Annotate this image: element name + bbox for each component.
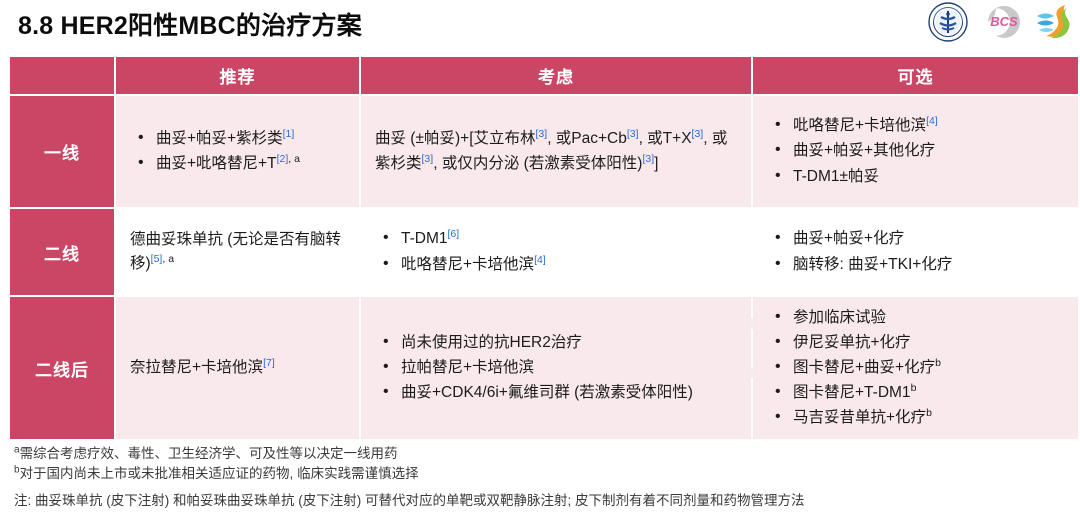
paragraph: 奈拉替尼+卡培他滨[7] <box>130 356 347 380</box>
reference-marker: [3] <box>422 152 434 164</box>
list-item: 马吉妥昔单抗+化疗b <box>773 406 1066 430</box>
logo-group: BCS <box>928 2 1074 47</box>
stage-label-second-line: 二线 <box>10 209 114 295</box>
footnote-block: a需综合考虑疗效、毒性、卫生经济学、可及性等以决定一线用药 b对于国内尚未上市或… <box>14 444 1070 511</box>
table-row: 二线 德曲妥珠单抗 (无论是否有脑转移)[5], a T-DM1[6]吡咯替尼+… <box>10 209 1078 295</box>
stage-label-first-line: 一线 <box>10 96 114 207</box>
paragraph: 曲妥 (±帕妥)+[艾立布林[3], 或Pac+Cb[3], 或T+X[3], … <box>375 127 739 175</box>
cell-recommend-first-line: 曲妥+帕妥+紫杉类[1]曲妥+吡咯替尼+T[2], a <box>116 96 359 207</box>
footnote-b-text: 对于国内尚未上市或未批准相关适应证的药物, 临床实践需谨慎选择 <box>20 466 419 481</box>
list-item: 图卡替尼+曲妥+化疗b <box>773 356 1066 380</box>
list-item: 曲妥+帕妥+化疗 <box>773 227 1066 251</box>
cell-consider-second-line: T-DM1[6]吡咯替尼+卡培他滨[4] <box>361 209 751 295</box>
table-row: 一线 曲妥+帕妥+紫杉类[1]曲妥+吡咯替尼+T[2], a 曲妥 (±帕妥)+… <box>10 96 1078 207</box>
list-item: T-DM1[6] <box>381 227 739 251</box>
cell-consider-beyond-second-line: 尚未使用过的抗HER2治疗拉帕替尼+卡培他滨曲妥+CDK4/6i+氟维司群 (若… <box>361 297 751 439</box>
table-header-row: 推荐 考虑 可选 <box>10 57 1078 94</box>
footnote-marker: , a <box>288 153 300 165</box>
reference-marker: [3] <box>536 128 548 140</box>
table-row: 二线后 奈拉替尼+卡培他滨[7] 尚未使用过的抗HER2治疗拉帕替尼+卡培他滨曲… <box>10 297 1078 439</box>
header-cell-optional: 可选 <box>753 57 1078 94</box>
bullet-list: 参加临床试验伊尼妥单抗+化疗图卡替尼+曲妥+化疗b图卡替尼+T-DM1b马吉妥昔… <box>767 306 1066 430</box>
cell-recommend-second-line: 德曲妥珠单抗 (无论是否有脑转移)[5], a <box>116 209 359 295</box>
reference-marker: [3] <box>627 128 639 140</box>
list-item: 曲妥+CDK4/6i+氟维司群 (若激素受体阳性) <box>381 381 739 405</box>
list-item: 曲妥+帕妥+紫杉类[1] <box>136 127 347 151</box>
list-item: 图卡替尼+T-DM1b <box>773 381 1066 405</box>
cell-optional-beyond-second-line: 参加临床试验伊尼妥单抗+化疗图卡替尼+曲妥+化疗b图卡替尼+T-DM1b马吉妥昔… <box>753 297 1078 439</box>
caca-emblem-logo <box>928 2 968 47</box>
footnote-b: b对于国内尚未上市或未批准相关适应证的药物, 临床实践需谨慎选择 <box>14 464 1070 484</box>
list-item: 尚未使用过的抗HER2治疗 <box>381 331 739 355</box>
header-cell-consider: 考虑 <box>361 57 751 94</box>
list-item: 拉帕替尼+卡培他滨 <box>381 356 739 380</box>
footnote-a-text: 需综合考虑疗效、毒性、卫生经济学、可及性等以决定一线用药 <box>20 446 398 461</box>
list-item: T-DM1±帕妥 <box>773 165 1066 189</box>
wave-s-logo <box>1034 2 1074 47</box>
page-title: 8.8 HER2阳性MBC的治疗方案 <box>18 6 362 42</box>
treatment-table: 推荐 考虑 可选 一线 曲妥+帕妥+紫杉类[1]曲妥+吡咯替尼+T[2], a … <box>8 55 1080 441</box>
header-cell-recommend: 推荐 <box>116 57 359 94</box>
table-head: 推荐 考虑 可选 <box>10 57 1078 94</box>
bullet-list: 曲妥+帕妥+化疗脑转移: 曲妥+TKI+化疗 <box>767 227 1066 276</box>
list-item: 参加临床试验 <box>773 306 1066 330</box>
header-cell-blank <box>10 57 114 94</box>
footnote-a: a需综合考虑疗效、毒性、卫生经济学、可及性等以决定一线用药 <box>14 444 1070 464</box>
paragraph: 德曲妥珠单抗 (无论是否有脑转移)[5], a <box>130 228 347 276</box>
list-item: 吡咯替尼+卡培他滨[4] <box>773 114 1066 138</box>
table-body: 一线 曲妥+帕妥+紫杉类[1]曲妥+吡咯替尼+T[2], a 曲妥 (±帕妥)+… <box>10 96 1078 439</box>
footnote-marker: b <box>935 357 941 369</box>
cell-recommend-beyond-second-line: 奈拉替尼+卡培他滨[7] <box>116 297 359 439</box>
reference-marker: [1] <box>283 128 295 140</box>
reference-marker: [6] <box>448 228 460 240</box>
reference-marker: [3] <box>642 152 654 164</box>
list-item: 吡咯替尼+卡培他滨[4] <box>381 253 739 277</box>
bullet-list: 曲妥+帕妥+紫杉类[1]曲妥+吡咯替尼+T[2], a <box>130 127 347 176</box>
reference-marker: [4] <box>534 253 546 265</box>
reference-marker: [2] <box>277 153 289 165</box>
bullet-list: T-DM1[6]吡咯替尼+卡培他滨[4] <box>375 227 739 276</box>
bullet-list: 吡咯替尼+卡培他滨[4]曲妥+帕妥+其他化疗T-DM1±帕妥 <box>767 114 1066 188</box>
stage-label-beyond-second-line: 二线后 <box>10 297 114 439</box>
slide-root: CACA CBCS 8.8 HER2阳性MBC的治疗方案 BCS <box>0 0 1080 517</box>
list-item: 曲妥+吡咯替尼+T[2], a <box>136 152 347 176</box>
list-item: 伊尼妥单抗+化疗 <box>773 331 1066 355</box>
cell-optional-first-line: 吡咯替尼+卡培他滨[4]曲妥+帕妥+其他化疗T-DM1±帕妥 <box>753 96 1078 207</box>
reference-marker: [5] <box>151 253 163 265</box>
bullet-list: 尚未使用过的抗HER2治疗拉帕替尼+卡培他滨曲妥+CDK4/6i+氟维司群 (若… <box>375 331 739 405</box>
footnote-marker: b <box>926 407 932 419</box>
footnote-marker: b <box>911 382 917 394</box>
general-note: 注: 曲妥珠单抗 (皮下注射) 和帕妥珠曲妥珠单抗 (皮下注射) 可替代对应的单… <box>14 491 1070 511</box>
svg-text:BCS: BCS <box>990 14 1018 29</box>
reference-marker: [7] <box>263 357 275 369</box>
list-item: 脑转移: 曲妥+TKI+化疗 <box>773 253 1066 277</box>
cbcs-crescent-logo: BCS <box>970 2 1032 47</box>
footnote-marker: , a <box>162 253 174 265</box>
list-item: 曲妥+帕妥+其他化疗 <box>773 139 1066 163</box>
reference-marker: [3] <box>692 128 704 140</box>
reference-marker: [4] <box>926 115 938 127</box>
treatment-table-wrap: 推荐 考虑 可选 一线 曲妥+帕妥+紫杉类[1]曲妥+吡咯替尼+T[2], a … <box>8 55 1072 441</box>
cell-consider-first-line: 曲妥 (±帕妥)+[艾立布林[3], 或Pac+Cb[3], 或T+X[3], … <box>361 96 751 207</box>
cell-optional-second-line: 曲妥+帕妥+化疗脑转移: 曲妥+TKI+化疗 <box>753 209 1078 295</box>
